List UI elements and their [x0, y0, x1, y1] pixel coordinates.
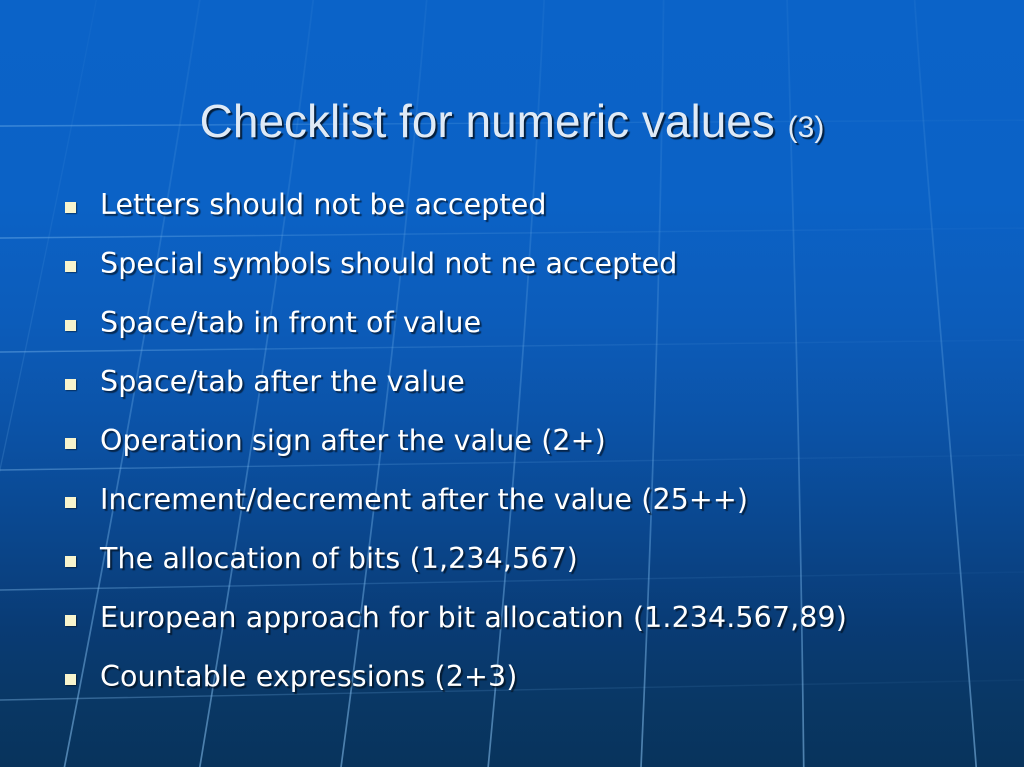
list-item: Letters should not be accepted — [58, 180, 984, 229]
list-item-label: The allocation of bits (1,234,567) — [100, 534, 984, 583]
list-item: Countable expressions (2+3) — [58, 652, 984, 701]
bullet-square-icon — [65, 261, 76, 272]
bullet-square-icon — [65, 320, 76, 331]
list-item-label: Operation sign after the value (2+) — [100, 416, 984, 465]
list-item: European approach for bit allocation (1.… — [58, 593, 984, 642]
bullet-square-icon — [65, 379, 76, 390]
list-item: Space/tab in front of value — [58, 298, 984, 347]
list-item-label: Increment/decrement after the value (25+… — [100, 475, 984, 524]
page-title-main: Checklist for numeric values — [200, 95, 775, 147]
list-item-label: Space/tab after the value — [100, 357, 984, 406]
list-item: Space/tab after the value — [58, 357, 984, 406]
presentation-slide: Checklist for numeric values (3) Letters… — [0, 0, 1024, 767]
list-item: The allocation of bits (1,234,567) — [58, 534, 984, 583]
slide-content: Checklist for numeric values (3) Letters… — [0, 0, 1024, 767]
bullet-square-icon — [65, 497, 76, 508]
bullet-square-icon — [65, 556, 76, 567]
page-title: Checklist for numeric values (3) — [0, 97, 1024, 145]
bullet-square-icon — [65, 202, 76, 213]
checklist: Letters should not be accepted Special s… — [58, 180, 984, 711]
list-item: Operation sign after the value (2+) — [58, 416, 984, 465]
list-item-label: European approach for bit allocation (1.… — [100, 593, 984, 642]
list-item-label: Countable expressions (2+3) — [100, 652, 984, 701]
list-item: Special symbols should not ne accepted — [58, 239, 984, 288]
list-item-label: Letters should not be accepted — [100, 180, 984, 229]
bullet-square-icon — [65, 615, 76, 626]
page-title-suffix: (3) — [788, 111, 825, 144]
list-item-label: Special symbols should not ne accepted — [100, 239, 984, 288]
bullet-square-icon — [65, 674, 76, 685]
list-item-label: Space/tab in front of value — [100, 298, 984, 347]
list-item: Increment/decrement after the value (25+… — [58, 475, 984, 524]
bullet-square-icon — [65, 438, 76, 449]
